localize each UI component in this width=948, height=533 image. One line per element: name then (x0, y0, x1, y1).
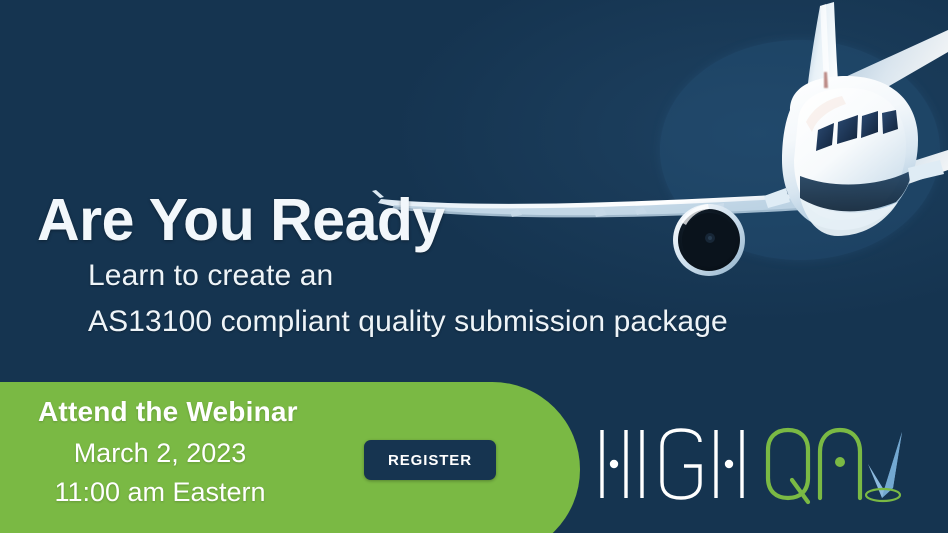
logo-dot-1 (610, 460, 618, 468)
logo-dot-2 (725, 460, 733, 468)
webinar-schedule: March 2, 2023 11:00 am Eastern (0, 434, 320, 513)
webinar-date: March 2, 2023 (0, 434, 320, 473)
subtitle-line-2: AS13100 compliant quality submission pac… (88, 299, 728, 345)
logo-high-wordmark (602, 430, 742, 498)
logo-qa-wordmark (768, 430, 860, 502)
promo-banner: Are You Ready for AS13100? Learn to crea… (0, 0, 948, 533)
webinar-time: 11:00 am Eastern (0, 473, 320, 512)
webinar-heading: Attend the Webinar (38, 396, 298, 428)
subtitle: Learn to create an AS13100 compliant qua… (88, 253, 728, 344)
register-button[interactable]: REGISTER (364, 440, 496, 480)
headline-line-1: Are You Ready (37, 180, 445, 261)
high-qa-logo[interactable] (596, 424, 906, 506)
logo-checkmark-icon (866, 432, 902, 501)
logo-qa-dot (835, 457, 845, 467)
subtitle-line-1: Learn to create an (88, 253, 728, 299)
